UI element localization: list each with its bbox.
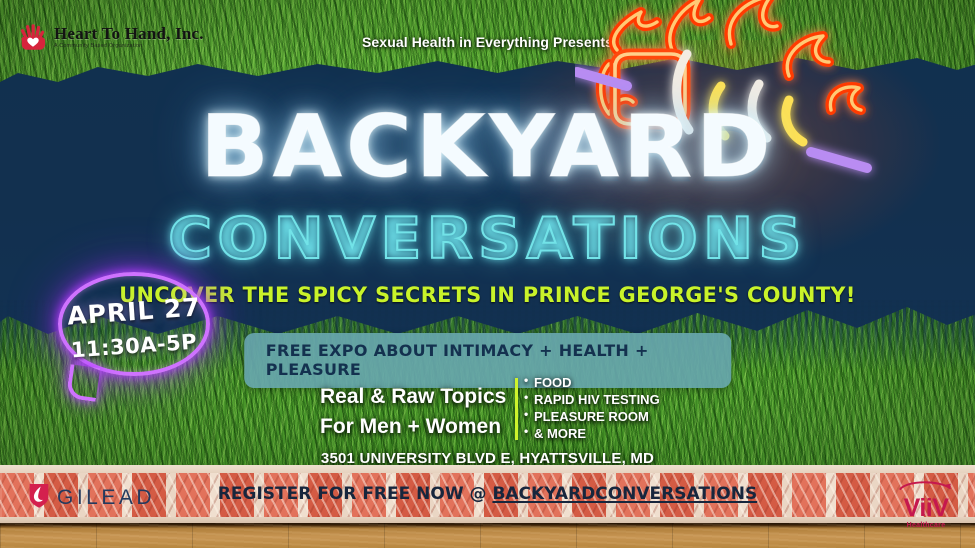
main-title: BACKYARD [0, 108, 975, 187]
perks-list: FOOD RAPID HIV TESTING PLEASURE ROOM & M… [524, 374, 660, 443]
blanket-top-trim [0, 465, 975, 473]
main-title-wrap: BACKYARD [0, 108, 975, 187]
viiv-swoosh-icon [895, 480, 957, 491]
list-item: FOOD [524, 374, 660, 391]
register-link[interactable]: BACKYARDCONVERSATIONS [492, 484, 757, 504]
wood-deck [0, 523, 975, 548]
topics-line-1: Real & Raw Topics [320, 382, 510, 412]
register-cta[interactable]: REGISTER FOR FREE NOW @ BACKYARDCONVERSA… [0, 484, 975, 504]
register-prefix: REGISTER FOR FREE NOW @ [218, 484, 493, 504]
list-item: RAPID HIV TESTING [524, 391, 660, 408]
event-flyer: Heart To Hand, Inc. A Community Based Or… [0, 0, 975, 548]
vertical-divider [515, 378, 518, 440]
topics-line-2: For Men + Women [320, 412, 510, 442]
sub-title: CONVERSATIONS [0, 206, 975, 272]
topics-block: Real & Raw Topics For Men + Women [320, 382, 510, 443]
sponsor-viiv: ViiV Healthcare [895, 478, 957, 529]
viiv-wordmark: ViiV [895, 496, 957, 521]
list-item: & MORE [524, 425, 660, 442]
viiv-subtitle: Healthcare [895, 522, 957, 529]
list-item: PLEASURE ROOM [524, 408, 660, 425]
